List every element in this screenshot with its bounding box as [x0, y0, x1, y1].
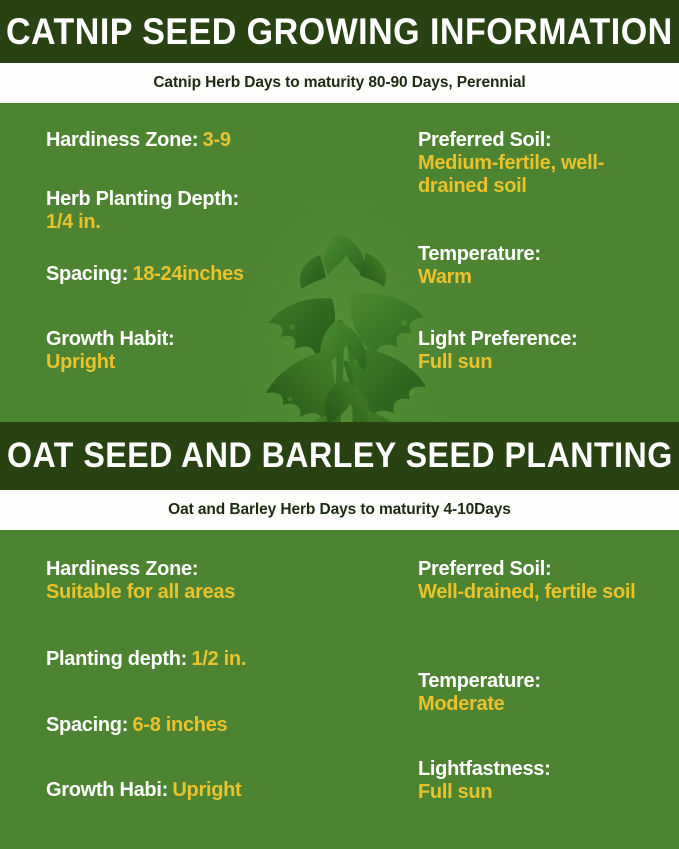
- fact-herb-planting-depth: Herb Planting Depth: 1/4 in.: [46, 188, 239, 234]
- fact-value: Upright: [46, 351, 174, 374]
- fact-spacing: Spacing: 6-8 inches: [46, 714, 227, 737]
- fact-planting-depth: Planting depth: 1/2 in.: [46, 648, 246, 671]
- fact-label: Lightfastness:: [418, 758, 550, 781]
- fact-label: Growth Habi:: [46, 779, 168, 801]
- fact-preferred-soil: Preferred Soil: Well-drained, fertile so…: [418, 558, 635, 604]
- fact-label: Light Preference:: [418, 328, 577, 351]
- catnip-plant-image: [228, 203, 458, 422]
- section-catnip-panel: Hardiness Zone: 3-9 Herb Planting Depth:…: [0, 103, 679, 422]
- section-oat-barley-panel: Hardiness Zone: Suitable for all areas P…: [0, 530, 679, 849]
- fact-value: Warm: [418, 266, 541, 289]
- fact-label: Planting depth:: [46, 648, 187, 670]
- fact-label: Growth Habit:: [46, 328, 174, 351]
- fact-lightfastness: Lightfastness: Full sun: [418, 758, 550, 804]
- fact-label: Hardiness Zone:: [46, 558, 235, 581]
- fact-value: 6-8 inches: [133, 714, 228, 736]
- fact-hardiness-zone: Hardiness Zone: Suitable for all areas: [46, 558, 235, 604]
- fact-preferred-soil: Preferred Soil: Medium-fertile, well-dra…: [418, 129, 670, 199]
- fact-label: Preferred Soil:: [418, 129, 670, 152]
- fact-label: Herb Planting Depth:: [46, 188, 239, 211]
- fact-label: Preferred Soil:: [418, 558, 635, 581]
- fact-value: Moderate: [418, 693, 541, 716]
- fact-value: Well-drained, fertile soil: [418, 581, 635, 604]
- fact-value: 1/2 in.: [192, 648, 247, 670]
- fact-value: 1/4 in.: [46, 211, 239, 234]
- section-catnip-subtitle: Catnip Herb Days to maturity 80-90 Days,…: [153, 74, 525, 92]
- section-oat-barley-subtitle-band: Oat and Barley Herb Days to maturity 4-1…: [0, 490, 679, 533]
- fact-value: Upright: [172, 779, 241, 801]
- fact-label: Hardiness Zone:: [46, 129, 198, 151]
- fact-growth-habit: Growth Habit: Upright: [46, 328, 174, 374]
- fact-value: Suitable for all areas: [46, 581, 235, 604]
- section-catnip-title-band: CATNIP SEED GROWING INFORMATION: [0, 0, 679, 63]
- fact-label: Spacing:: [46, 714, 128, 736]
- fact-value: 3-9: [203, 129, 231, 151]
- fact-value: Full sun: [418, 351, 577, 374]
- section-oat-barley-subtitle: Oat and Barley Herb Days to maturity 4-1…: [168, 501, 511, 519]
- fact-spacing: Spacing: 18-24inches: [46, 263, 244, 286]
- fact-temperature: Temperature: Warm: [418, 243, 541, 289]
- section-catnip-subtitle-band: Catnip Herb Days to maturity 80-90 Days,…: [0, 63, 679, 106]
- section-oat-barley-title: OAT SEED AND BARLEY SEED PLANTING: [7, 436, 673, 476]
- fact-temperature: Temperature: Moderate: [418, 670, 541, 716]
- fact-value: Medium-fertile, well-drained soil: [418, 152, 670, 198]
- fact-label: Spacing:: [46, 263, 128, 285]
- fact-label: Temperature:: [418, 243, 541, 266]
- fact-light-preference: Light Preference: Full sun: [418, 328, 577, 374]
- fact-value: Full sun: [418, 781, 550, 804]
- section-catnip-title: CATNIP SEED GROWING INFORMATION: [6, 11, 673, 53]
- fact-value: 18-24inches: [133, 263, 244, 285]
- fact-growth-habit: Growth Habi: Upright: [46, 779, 241, 802]
- infographic-root: CATNIP SEED GROWING INFORMATION Catnip H…: [0, 0, 679, 849]
- fact-label: Temperature:: [418, 670, 541, 693]
- fact-hardiness-zone: Hardiness Zone: 3-9: [46, 129, 231, 152]
- section-oat-barley-title-band: OAT SEED AND BARLEY SEED PLANTING: [0, 422, 679, 490]
